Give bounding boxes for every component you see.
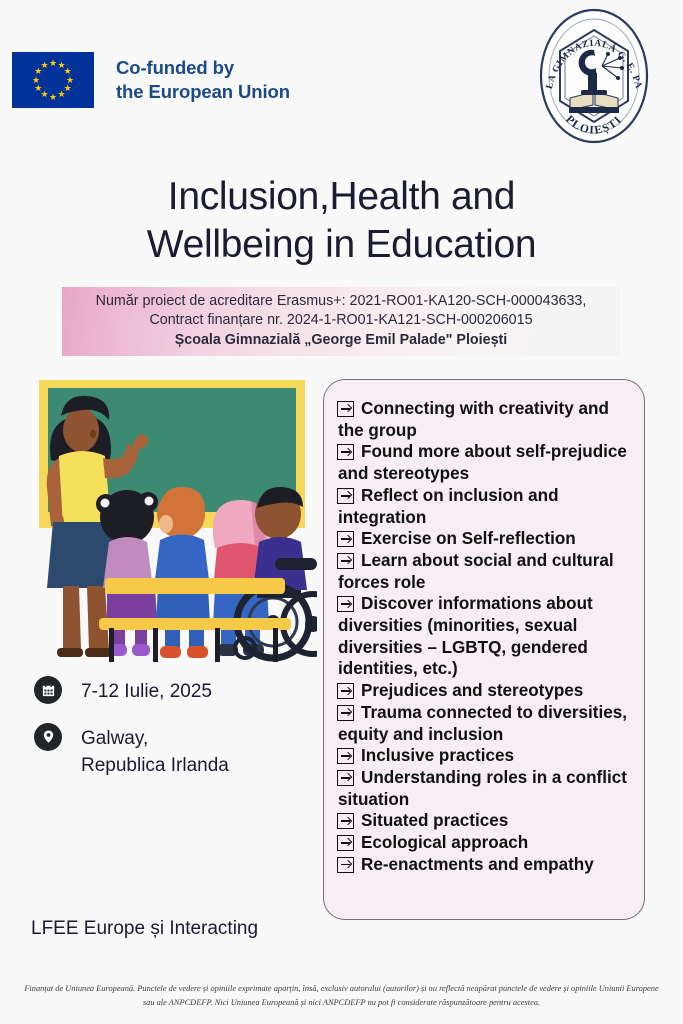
school-name: Școala Gimnazială „George Emil Palade" P…: [68, 331, 614, 350]
event-location-row: Galway, Republica Irlanda: [34, 723, 314, 780]
calendar-icon: [34, 676, 62, 704]
objective-item: Re-enactments and empathy: [338, 854, 636, 876]
arrow-in-box-icon: [337, 748, 354, 764]
arrow-in-box-icon: [337, 705, 354, 721]
event-date: 7-12 Iulie, 2025: [81, 676, 212, 706]
objective-label: Ecological approach: [361, 833, 528, 852]
eu-star-icon: ★: [57, 90, 66, 99]
arrow-in-box-icon: [337, 857, 354, 873]
arrow-in-box-icon: [337, 813, 354, 829]
arrow-in-box-icon: [337, 444, 354, 460]
arrow-in-box-icon: [337, 488, 354, 504]
objective-item: Reflect on inclusion and integration: [338, 485, 636, 528]
objective-item: Discover informations about diversities …: [338, 593, 636, 680]
objective-label: Exercise on Self-reflection: [361, 529, 576, 548]
objective-label: Connecting with creativity and the group: [338, 399, 609, 440]
event-location: Galway, Republica Irlanda: [81, 723, 229, 780]
objective-label: Re-enactments and empathy: [361, 855, 594, 874]
event-details: 7-12 Iulie, 2025 Galway, Republica Irlan…: [34, 676, 314, 797]
objective-item: Connecting with creativity and the group: [338, 398, 636, 441]
objective-item: Learn about social and cultural forces r…: [338, 550, 636, 593]
eu-star-icon: ★: [34, 84, 43, 93]
objective-item: Ecological approach: [338, 832, 636, 854]
classroom-inclusion-illustration: [29, 372, 317, 668]
objective-item: Trauma connected to diversities, equity …: [338, 702, 636, 745]
objective-label: Learn about social and cultural forces r…: [338, 551, 614, 592]
location-pin-icon: [34, 723, 62, 751]
objective-label: Inclusive practices: [361, 746, 514, 765]
arrow-in-box-icon: [337, 770, 354, 786]
pupil-2: [154, 487, 210, 658]
objective-label: Trauma connected to diversities, equity …: [338, 703, 627, 744]
objective-item: Prejudices and stereotypes: [338, 680, 636, 702]
poster-header: ★★★★★★★★★★★★ Co-funded by the European U…: [0, 0, 683, 150]
eu-star-icon: ★: [32, 76, 41, 85]
eu-cofunding-logo: ★★★★★★★★★★★★ Co-funded by the European U…: [12, 52, 290, 108]
arrow-in-box-icon: [337, 596, 354, 612]
objective-label: Understanding roles in a conflict situat…: [338, 768, 627, 809]
objective-item: Exercise on Self-reflection: [338, 528, 636, 550]
objective-label: Prejudices and stereotypes: [361, 681, 583, 700]
arrow-in-box-icon: [337, 553, 354, 569]
objective-item: Found more about self-prejudice and ster…: [338, 441, 636, 484]
accreditation-numbers: Număr proiect de acreditare Erasmus+: 20…: [68, 292, 614, 330]
objective-label: Found more about self-prejudice and ster…: [338, 442, 627, 483]
objectives-panel: Connecting with creativity and the group…: [323, 379, 645, 920]
arrow-in-box-icon: [337, 531, 354, 547]
arrow-in-box-icon: [337, 835, 354, 851]
eu-flag-icon: ★★★★★★★★★★★★: [12, 52, 94, 108]
event-date-row: 7-12 Iulie, 2025: [34, 676, 314, 706]
objective-item: Understanding roles in a conflict situat…: [338, 767, 636, 810]
objective-label: Discover informations about diversities …: [338, 594, 593, 678]
arrow-in-box-icon: [337, 683, 354, 699]
eu-star-icon: ★: [49, 93, 58, 102]
eu-funding-disclaimer: Finanțat de Uniunea Europeană. Punctele …: [0, 982, 683, 1009]
page-title: Inclusion,Health and Wellbeing in Educat…: [0, 173, 683, 268]
eu-funding-text: Co-funded by the European Union: [116, 56, 290, 104]
organisers-label: LFEE Europe și Interacting: [31, 918, 258, 940]
objective-label: Reflect on inclusion and integration: [338, 486, 559, 527]
school-seal-icon: ȘCOALA GIMNAZIALĂ G. E. PALADE PLOIEȘTI: [536, 6, 652, 146]
objective-label: Situated practices: [361, 811, 508, 830]
project-accreditation-banner: Număr proiect de acreditare Erasmus+: 20…: [62, 287, 620, 356]
arrow-in-box-icon: [337, 401, 354, 417]
objective-item: Situated practices: [338, 810, 636, 832]
objective-item: Inclusive practices: [338, 745, 636, 767]
eu-star-icon: ★: [40, 61, 49, 70]
